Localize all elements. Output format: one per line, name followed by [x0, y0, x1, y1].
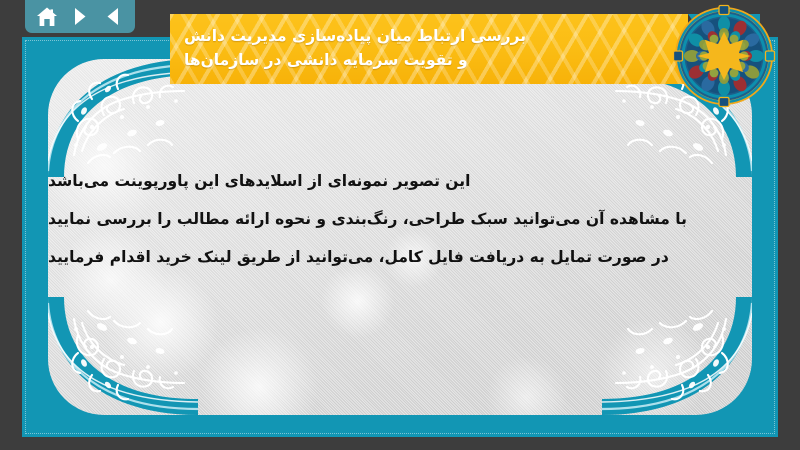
page-title-line-1: بررسی ارتباط میان پیاده‌سازی مدیریت دانش: [184, 25, 526, 49]
page-title-line-2: و تقویت سرمایه دانشی در سازمان‌ها: [184, 49, 468, 73]
triangle-left-icon: [104, 7, 121, 26]
slide-content-panel: این تصویر نمونه‌ای از اسلایدهای این پاور…: [48, 59, 752, 415]
slide-viewer: این تصویر نمونه‌ای از اسلایدهای این پاور…: [0, 0, 800, 450]
next-slide-button[interactable]: [67, 4, 93, 30]
body-line-3: در صورت تمایل به دریافت فایل کامل، می‌تو…: [48, 239, 669, 277]
home-icon: [36, 7, 58, 27]
persian-arabesque-corner-ornament-icon: [48, 295, 198, 415]
persian-medallion-ornament-icon: [670, 2, 778, 110]
slide-body-text: این تصویر نمونه‌ای از اسلایدهای این پاور…: [48, 163, 752, 277]
triangle-right-icon: [72, 7, 89, 26]
slide-canvas: این تصویر نمونه‌ای از اسلایدهای این پاور…: [22, 37, 778, 437]
navigation-toolbar: [25, 0, 135, 33]
persian-arabesque-corner-ornament-icon: [602, 295, 752, 415]
previous-slide-button[interactable]: [100, 4, 126, 30]
ribbon-body: بررسی ارتباط میان پیاده‌سازی مدیریت دانش…: [170, 14, 688, 84]
body-line-1: این تصویر نمونه‌ای از اسلایدهای این پاور…: [48, 163, 470, 201]
home-button[interactable]: [34, 4, 60, 30]
body-line-2: با مشاهده آن می‌توانید سبک طراحی، رنگ‌بن…: [48, 201, 687, 239]
